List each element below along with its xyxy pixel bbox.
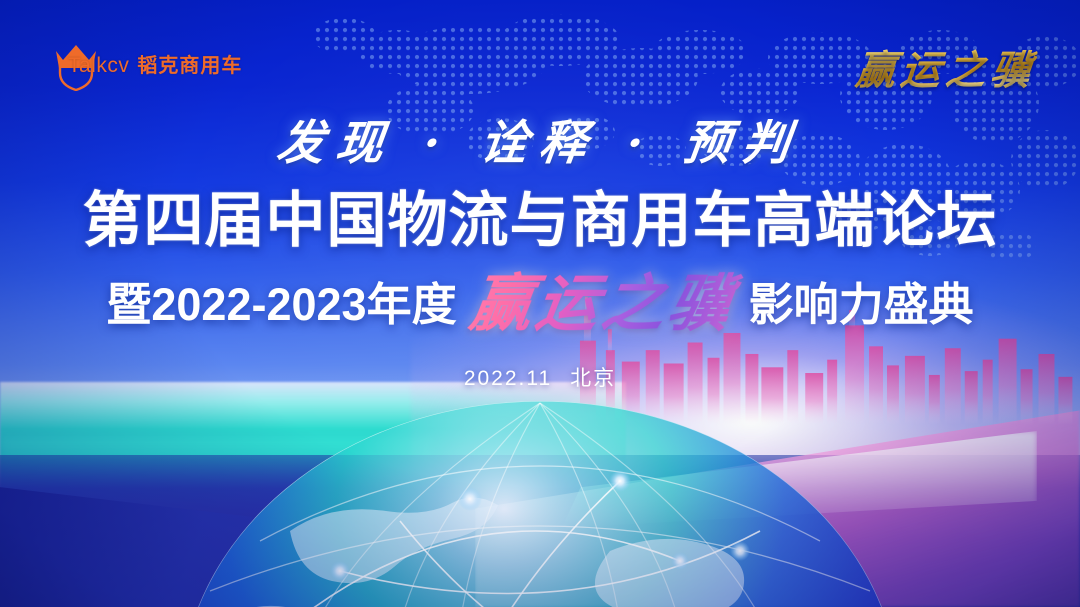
brand-chinese-name: 韬克商用车: [137, 55, 242, 77]
page-title: 第四届中国物流与商用车高端论坛: [0, 172, 1080, 259]
subtitle-right: 影响力盛典: [749, 268, 974, 333]
gold-brand-calligraphy: 赢运之骥: [853, 38, 1039, 96]
subtitle-script-calligraphy: 赢运之骥: [455, 253, 752, 343]
subtitle-left: 暨2022-2023年度: [106, 268, 456, 333]
subtitle-row: 暨2022-2023年度 赢运之骥 影响力盛典: [0, 255, 1080, 345]
dateline: 2022.11北京: [0, 362, 1080, 392]
brand-latin-name: Talkcv: [68, 54, 129, 77]
brand-logo: Talkcv韬克商用车: [48, 34, 242, 92]
brand-name: Talkcv韬克商用车: [68, 49, 242, 78]
event-date: 2022.11: [464, 367, 552, 390]
event-city: 北京: [570, 367, 616, 390]
poster-content: Talkcv韬克商用车 赢运之骥 发现 · 诠释 · 预判 第四届中国物流与商用…: [0, 0, 1080, 607]
kicker-line: 发现 · 诠释 · 预判: [0, 104, 1080, 173]
event-poster: Talkcv韬克商用车 赢运之骥 发现 · 诠释 · 预判 第四届中国物流与商用…: [0, 0, 1080, 607]
